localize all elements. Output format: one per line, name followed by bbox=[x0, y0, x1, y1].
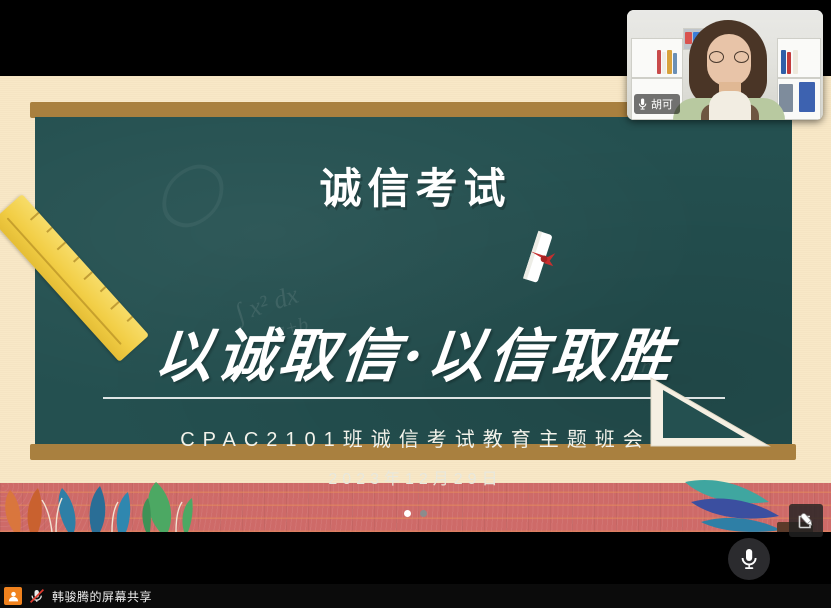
headline-divider bbox=[103, 397, 725, 399]
meeting-screen-share-window: ∫ x² dx a+b π r² ◯ 诚信考试 bbox=[0, 0, 831, 608]
page-dot-2[interactable] bbox=[420, 510, 427, 517]
participant-name-badge: 胡可 bbox=[634, 94, 680, 114]
set-square-decoration bbox=[633, 376, 773, 450]
mic-muted-icon[interactable] bbox=[29, 588, 45, 604]
person-glyph-icon bbox=[8, 591, 19, 602]
status-bar: 韩骏腾的屏幕共享 bbox=[0, 584, 831, 608]
pen-disabled-icon bbox=[795, 510, 817, 532]
shared-slide[interactable]: ∫ x² dx a+b π r² ◯ 诚信考试 bbox=[0, 76, 831, 532]
annotation-toggle-button[interactable] bbox=[789, 504, 823, 537]
participant-name-text: 胡可 bbox=[651, 96, 673, 112]
glasses-icon bbox=[709, 51, 749, 63]
plant-decoration-left bbox=[0, 476, 260, 532]
page-dot-1[interactable] bbox=[404, 510, 411, 517]
participant-icon[interactable] bbox=[4, 587, 22, 605]
participant-collar bbox=[709, 91, 751, 120]
screen-share-label: 韩骏腾的屏幕共享 bbox=[52, 588, 152, 605]
microphone-icon bbox=[638, 98, 647, 110]
mic-button[interactable] bbox=[728, 538, 770, 580]
page-indicator[interactable] bbox=[0, 510, 831, 517]
diploma-scroll-icon bbox=[517, 230, 559, 286]
microphone-muted-icon bbox=[29, 588, 45, 604]
slide-title: 诚信考试 bbox=[0, 155, 831, 216]
webcam-thumbnail[interactable]: 胡可 bbox=[627, 10, 823, 120]
microphone-icon bbox=[740, 547, 758, 571]
